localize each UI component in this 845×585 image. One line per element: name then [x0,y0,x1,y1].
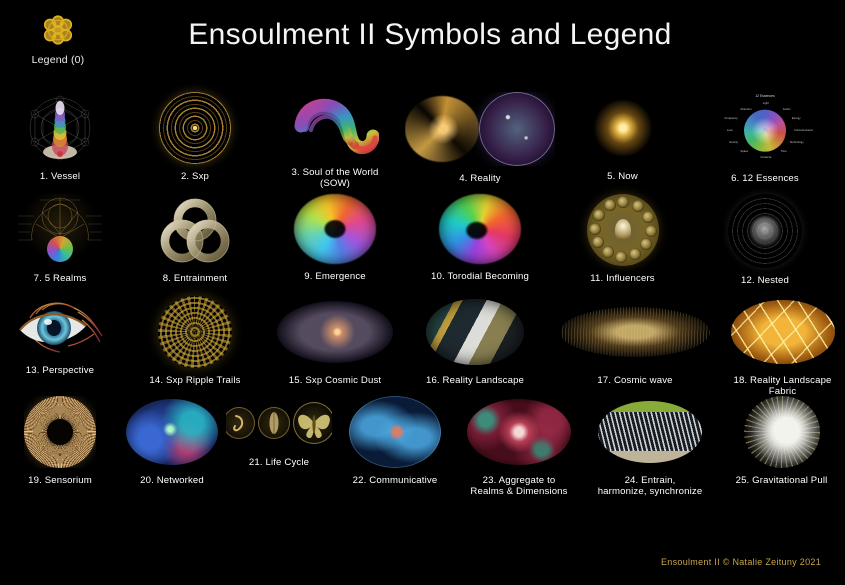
soul-of-the-world-icon [291,92,379,160]
symbol-item-12[interactable]: 12. Nested [685,194,845,286]
symbol-item-3[interactable]: 3. Soul of the World (SOW) [270,92,400,190]
twelve-essences-wheel-icon: 12 Essences Light Action Energy Consciou… [709,92,821,166]
symbol-item-9[interactable]: 9. Emergence [270,194,400,282]
essence-tag-light: Light [763,102,769,105]
symbol-label-5: 5. Now [607,171,638,182]
symbol-label-24: 24. Entrain, harmonize, synchronize [598,475,703,498]
essence-tag-action: Action [783,108,791,111]
reality-swirl-sphere-icon [405,92,555,166]
symbol-item-2[interactable]: 2. Sxp [120,92,270,182]
symbol-item-22[interactable]: 22. Communicative [334,396,456,486]
entrainment-trefoil-knot-icon [156,194,234,266]
symbol-item-10[interactable]: 10. Torodial Becoming [400,194,560,282]
symbol-label-23-line2: Realms & Dimensions [470,486,567,497]
symbol-item-15[interactable]: 15. Sxp Cosmic Dust [270,296,400,386]
symbol-label-12: 12. Nested [741,275,789,286]
symbol-label-10: 10. Torodial Becoming [431,271,529,282]
essence-tag-universe: Universe [761,156,772,159]
symbol-label-6: 6. 12 Essences [731,173,799,184]
life-cycle-medallions-icon [226,396,332,450]
torodial-becoming-icon [439,194,521,264]
reality-landscape-fabric-icon [731,296,835,368]
essence-tag-energy: Energy [792,117,801,120]
symbol-label-19: 19. Sensorium [28,475,92,486]
symbol-label-7: 7. 5 Realms [34,273,87,284]
symbol-item-11[interactable]: 11. Influencers [560,194,685,284]
essence-tag-consciousness: Consciousness [794,129,813,132]
symbol-label-3-line2: (SOW) [291,178,378,189]
perspective-eye-icon [12,296,108,358]
essences-wheel-title: 12 Essences [755,94,774,98]
copyright-credit: Ensoulment II © Natalie Zeituny 2021 [661,557,821,567]
symbol-item-25[interactable]: 25. Gravitational Pull [718,396,845,486]
symbol-label-16: 16. Reality Landscape [426,375,524,386]
symbol-label-24-line2: harmonize, synchronize [598,486,703,497]
aggregate-fractal-icon [467,396,571,468]
cosmic-wave-icon [560,296,710,368]
vessel-chakra-figure-icon [18,92,102,164]
symbol-item-5[interactable]: 5. Now [560,92,685,182]
symbol-label-17: 17. Cosmic wave [597,375,672,386]
emergence-torus-icon [294,194,376,264]
essence-tag-frequency: Frequency [725,117,738,120]
symbol-item-7[interactable]: 7. 5 Realms [0,194,120,284]
symbol-item-24[interactable]: 24. Entrain, harmonize, synchronize [582,396,718,498]
symbol-item-14[interactable]: 14. Sxp Ripple Trails [120,296,270,386]
essence-tag-love: Love [727,129,733,132]
symbol-label-4: 4. Reality [459,173,501,184]
life-cycle-chrysalis-icon [258,407,290,439]
symbol-label-9: 9. Emergence [304,271,366,282]
symbol-label-3: 3. Soul of the World (SOW) [291,167,378,190]
page-title: Ensoulment II Symbols and Legend [150,18,710,52]
essence-tag-gravity: Gravity [729,141,738,144]
legend-badge[interactable]: Legend (0) [22,10,94,66]
sxp-ripple-trails-icon [158,296,232,368]
symbol-item-6[interactable]: 12 Essences Light Action Energy Consciou… [685,92,845,184]
symbol-item-18[interactable]: 18. Reality Landscape Fabric [720,296,845,398]
essence-tag-time: Time [781,150,787,153]
symbol-label-22: 22. Communicative [353,475,438,486]
symbol-item-8[interactable]: 8. Entrainment [120,194,270,284]
symbol-item-16[interactable]: 16. Reality Landscape [400,296,550,386]
nested-rings-icon [728,194,802,268]
essence-tag-space: Space [740,150,748,153]
symbol-label-25: 25. Gravitational Pull [736,475,828,486]
rosette-flower-icon [38,10,78,50]
life-cycle-butterfly-icon [293,402,332,444]
symbol-label-21: 21. Life Cycle [249,457,309,468]
symbol-item-17[interactable]: 17. Cosmic wave [550,296,720,386]
now-glow-icon [593,92,653,164]
symbol-label-11: 11. Influencers [590,273,654,284]
symbol-label-23: 23. Aggregate to Realms & Dimensions [470,475,567,498]
symbol-label-2: 2. Sxp [181,171,209,182]
poster-header: Legend (0) Ensoulment II Symbols and Leg… [0,0,845,88]
five-realms-diagram-icon [16,194,104,266]
symbol-item-23[interactable]: 23. Aggregate to Realms & Dimensions [456,396,582,498]
communicative-synapse-icon [349,396,441,468]
sensorium-iris-icon [24,396,96,468]
symbol-label-18: 18. Reality Landscape Fabric [720,375,845,398]
symbol-label-8: 8. Entrainment [163,273,228,284]
essence-tag-attention: Attention [740,108,751,111]
symbol-item-4[interactable]: 4. Reality [400,92,560,184]
legend-badge-label: Legend (0) [32,54,85,66]
symbol-label-13: 13. Perspective [26,365,94,376]
entrain-harmonize-icon [598,396,702,468]
essence-tag-technology: Technology [790,141,804,144]
poster-canvas: Legend (0) Ensoulment II Symbols and Leg… [0,0,845,585]
life-cycle-larva-icon [226,407,255,439]
symbol-item-21[interactable]: 21. Life Cycle [224,396,334,468]
symbol-label-24-line1: 24. Entrain, [625,475,676,486]
symbol-label-23-line1: 23. Aggregate to [483,475,556,486]
symbol-item-19[interactable]: 19. Sensorium [0,396,120,486]
symbol-label-3-line1: 3. Soul of the World [291,167,378,178]
networked-nebula-icon [126,396,218,468]
symbol-label-20: 20. Networked [140,475,204,486]
influencers-medallion-disc-icon [587,194,659,266]
symbol-item-20[interactable]: 20. Networked [120,396,224,486]
sxp-cosmic-dust-icon [277,296,393,368]
symbol-label-15: 15. Sxp Cosmic Dust [289,375,381,386]
symbol-item-1[interactable]: 1. Vessel [0,92,120,182]
gravitational-pull-spiral-icon [744,396,820,468]
sxp-concentric-rings-icon [159,92,231,164]
symbol-label-1: 1. Vessel [40,171,80,182]
symbol-label-14: 14. Sxp Ripple Trails [149,375,240,386]
reality-landscape-icon [426,296,524,368]
symbol-item-13[interactable]: 13. Perspective [0,296,120,376]
